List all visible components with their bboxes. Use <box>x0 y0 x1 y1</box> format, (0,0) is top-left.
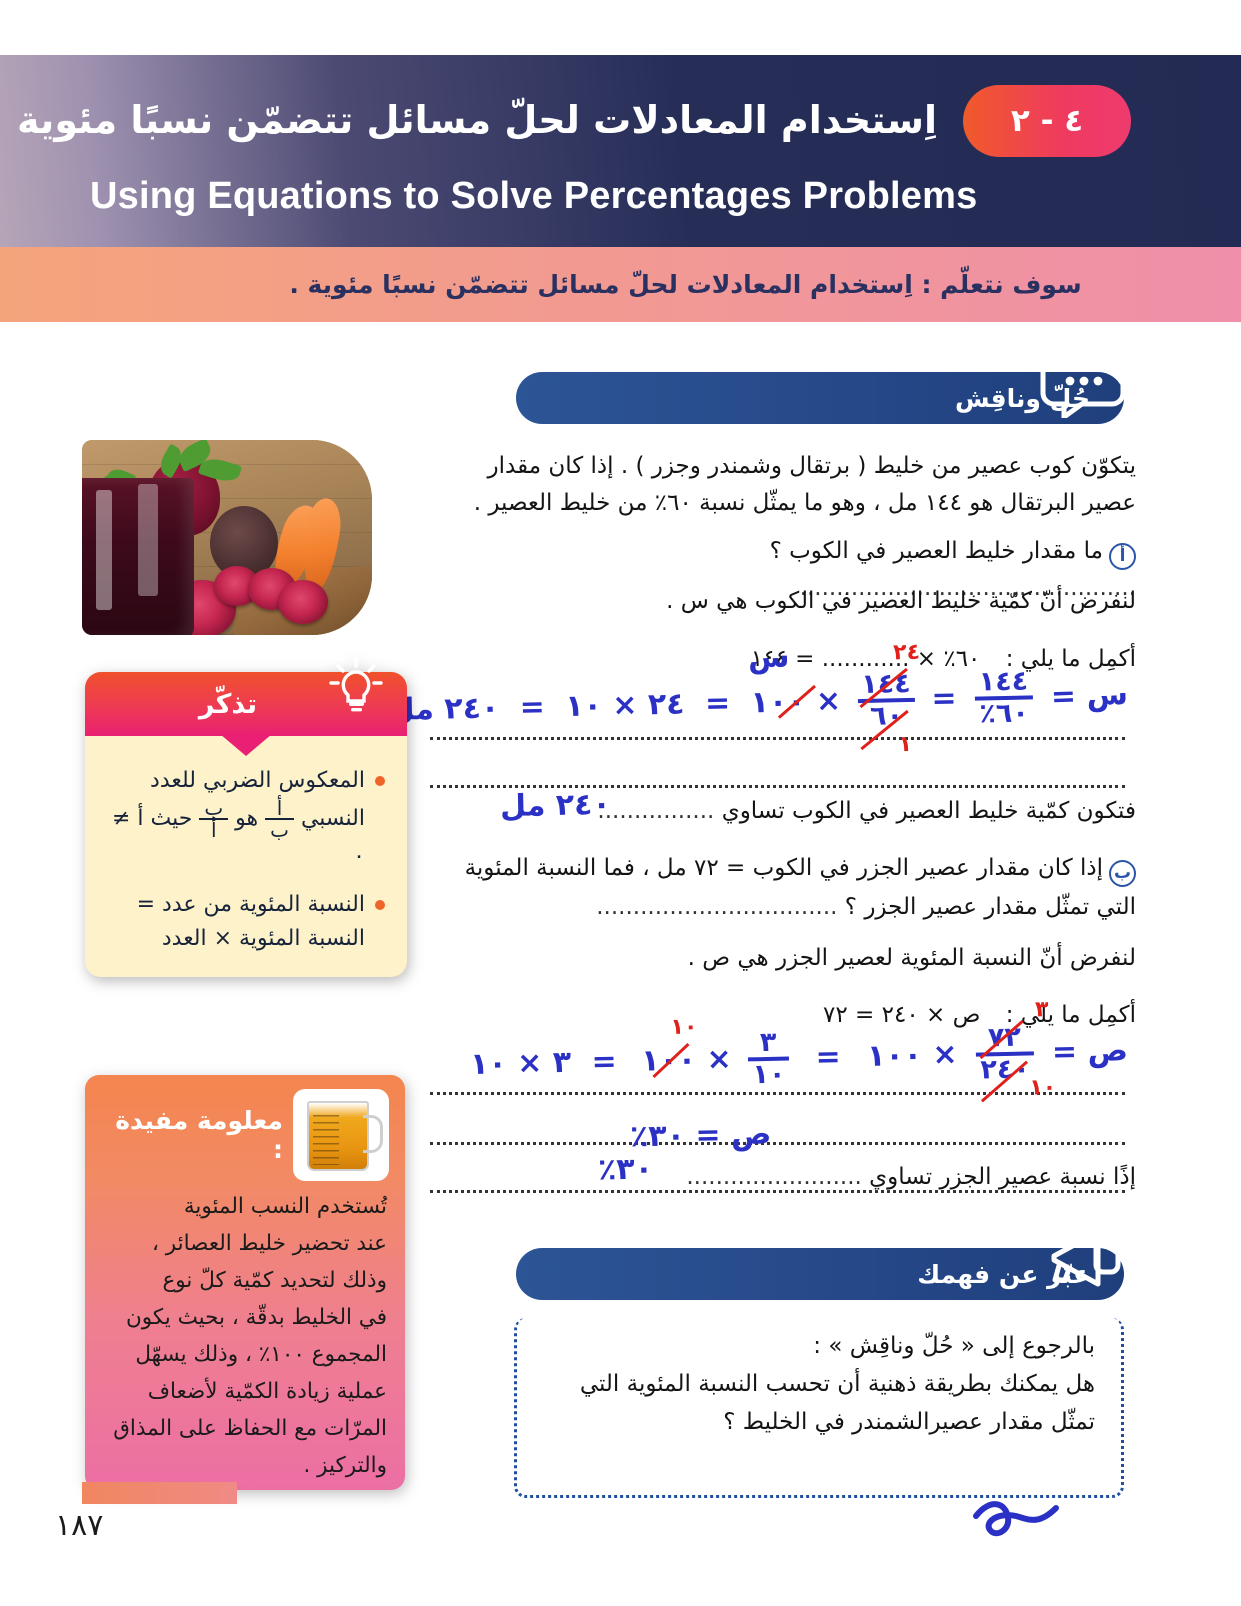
part-b-work-frac2-den: ١٠ <box>748 1061 790 1090</box>
useful-info-line-6: عملية زيادة الكمّية لأضعاف <box>101 1374 387 1411</box>
useful-info-card-title: معلومة مفيدة : <box>99 1106 283 1164</box>
remember-item-1-frac2-den: أ <box>199 820 228 840</box>
part-b-cancel2: ١٠ <box>670 1014 697 1040</box>
part-a-conclusion: فتكون كمّية خليط العصير في الكوب تساوي <box>722 798 1136 824</box>
part-b-answer-blank[interactable]: ................................. <box>596 894 837 920</box>
part-b-result-handwriting: ص = ٣٠٪ <box>629 1117 771 1155</box>
part-a-work-times: × <box>816 683 842 719</box>
useful-info-line-8: والتركيز . <box>101 1448 387 1485</box>
megaphone-icon <box>1038 1222 1126 1292</box>
part-a-work-eq3: = <box>705 686 731 722</box>
part-b-conclusion-row: إذًا نسبة عصير الجزر تساوي .............… <box>430 1159 1136 1196</box>
learning-objective-text: سوف نتعلّم : اِستخدام المعادلات لحلّ مسا… <box>159 270 1081 299</box>
lesson-number-badge: ٤ - ٢ <box>963 85 1131 157</box>
part-b-marker: ب <box>1109 860 1136 887</box>
part-a-work-eq4: = <box>519 689 545 725</box>
bullet-dot-icon <box>375 776 385 786</box>
useful-info-line-3: وذلك لتحديد كمّية كلّ نوع <box>101 1263 387 1300</box>
part-b-work-hundred1: ١٠٠ <box>867 1038 923 1074</box>
part-b-work-frac2-num: ٣ <box>747 1029 789 1062</box>
remember-item-2-line-2: النسبة المئوية × العدد <box>137 922 365 956</box>
remember-item-1-frac1-num: أ <box>265 798 294 820</box>
useful-info-line-1: تُستخدم النسب المئوية <box>101 1189 387 1226</box>
textbook-page: ٤ - ٢ اِستخدام المعادلات لحلّ مسائل تتضم… <box>0 0 1241 1606</box>
useful-info-line-7: المرّات مع الحفاظ على المذاق <box>101 1411 387 1448</box>
useful-info-card-body: تُستخدم النسب المئوية عند تحضير خليط الع… <box>85 1185 405 1490</box>
part-a-question: ما مقدار خليط العصير في الكوب ؟ <box>770 538 1103 564</box>
section-header-express-understanding: عبّر عن فهمك <box>516 1248 1124 1300</box>
bullet-dot-icon <box>375 900 385 910</box>
footer-color-tab <box>82 1482 237 1504</box>
useful-info-line-5: المجموع ١٠٠٪ ، وذلك يسهّل <box>101 1337 387 1374</box>
speech-bubble-icon <box>1040 352 1126 418</box>
remember-item-1-frac2-num: ب <box>199 798 228 820</box>
part-b-cancel1-num: ٣ <box>1035 997 1049 1022</box>
problem-intro-line-2: عصير البرتقال هو ١٤٤ مل ، وهو ما يمثّل ن… <box>430 485 1136 522</box>
part-b-question-line-1: إذا كان مقدار عصير الجزر في الكوب = ٧٢ م… <box>465 855 1103 881</box>
part-b-assume: لنفرض أنّ النسبة المئوية لعصير الجزر هي … <box>430 940 1136 977</box>
useful-info-card: معلومة مفيدة : تُستخدم النسب المئوية عند… <box>85 1075 405 1490</box>
part-b-question-row: بإذا كان مقدار عصير الجزر في الكوب = ٧٢ … <box>430 850 1136 927</box>
part-b-work-lhs: ص = <box>1052 1033 1129 1070</box>
part-b-work-times1: × <box>932 1037 958 1073</box>
express-understanding-text: بالرجوع إلى « حُلّ وناقِش » : هل يمكنك ب… <box>535 1328 1095 1442</box>
part-b-question-line-2: التي تمثّل مقدار عصير الجزر ؟ <box>845 894 1136 920</box>
part-a-work-frac1-num: ١٤٤ <box>974 667 1032 701</box>
section-header-solve-discuss: حُلّ وناقِش <box>516 372 1124 424</box>
measuring-jug-icon <box>293 1089 389 1181</box>
remember-item-2: النسبة المئوية من عدد = النسبة المئوية ×… <box>101 888 385 956</box>
part-a-conclusion-blank[interactable]: ................ <box>597 798 714 824</box>
part-b-conclusion-blank[interactable]: ........................ <box>686 1164 861 1190</box>
part-b-work-eq3: = <box>591 1044 617 1080</box>
learning-objective-band: سوف نتعلّم : اِستخدام المعادلات لحلّ مسا… <box>0 247 1241 322</box>
part-a-cancel-num: ٢٤ <box>893 640 920 666</box>
remember-item-1: المعكوس الضربي للعدد النسبي أ ب هو ب أ ح… <box>101 764 385 874</box>
page-number: ١٨٧ <box>55 1508 103 1543</box>
problem-intro-line-1: يتكوّن كوب عصير من خليط ( برتقال وشمندر … <box>430 448 1136 485</box>
part-a-assume: لنفرض أنّ كمّية خليط العصير في الكوب هي … <box>430 583 1136 620</box>
remember-item-2-line-1: النسبة المئوية من عدد = <box>137 888 365 922</box>
handwritten-checkmark <box>970 1490 1060 1550</box>
useful-info-card-header: معلومة مفيدة : <box>85 1075 405 1185</box>
remember-card: تذكّر المعكوس الضربي للعدد النسبي <box>85 672 407 977</box>
part-a-work-lhs: س = <box>1050 677 1128 715</box>
remember-item-1-frac1-den: ب <box>265 820 294 840</box>
problem-intro: يتكوّن كوب عصير من خليط ( برتقال وشمندر … <box>430 448 1136 523</box>
part-b-conclusion-handwriting: ٣٠٪ <box>598 1151 654 1187</box>
useful-info-line-4: في الخليط بدقّة ، بحيث يكون <box>101 1300 387 1337</box>
lightbulb-icon <box>323 656 389 718</box>
part-b-work-times2: × <box>706 1042 732 1078</box>
useful-info-line-2: عند تحضير خليط العصائر ، <box>101 1226 387 1263</box>
part-a-conclusion-handwriting: ٢٤٠ مل <box>500 787 611 824</box>
part-a-work-frac1-den: ٦٠٪ <box>975 700 1033 730</box>
part-b-work-step: ٣ × ١٠ <box>470 1045 572 1082</box>
part-a-cancel-den: ١ <box>898 732 912 757</box>
remember-card-body: المعكوس الضربي للعدد النسبي أ ب هو ب أ ح… <box>85 736 407 977</box>
part-a-work-step: ٢٤ × ١٠ <box>565 687 685 724</box>
juice-vegetables-photo <box>82 440 372 635</box>
part-a-work-eq2: = <box>931 681 957 717</box>
part-a-equation-blank-handwriting: س <box>747 640 789 676</box>
part-b-conclusion: إذًا نسبة عصير الجزر تساوي <box>869 1164 1136 1190</box>
lesson-title-english: Using Equations to Solve Percentages Pro… <box>90 175 1131 218</box>
part-a-marker: أ <box>1109 543 1136 570</box>
remember-card-header: تذكّر <box>85 672 407 736</box>
express-line-1: بالرجوع إلى « حُلّ وناقِش » : <box>535 1328 1095 1366</box>
express-line-3: تمثّل مقدار عصيرالشمندر في الخليط ؟ <box>535 1404 1095 1442</box>
lesson-title-arabic: اِستخدام المعادلات لحلّ مسائل تتضمّن نسب… <box>17 100 937 142</box>
part-b-cancel1-den: ١٠ <box>1029 1075 1056 1101</box>
work-line-b-2[interactable] <box>430 1142 1125 1145</box>
express-line-2: هل يمكنك بطريقة ذهنية أن تحسب النسبة الم… <box>535 1366 1095 1404</box>
part-b-work-eq2: = <box>815 1039 841 1075</box>
express-understanding-box: بالرجوع إلى « حُلّ وناقِش » : هل يمكنك ب… <box>514 1318 1124 1498</box>
remember-card-notch <box>220 734 272 756</box>
lesson-header-band: ٤ - ٢ اِستخدام المعادلات لحلّ مسائل تتضم… <box>0 55 1241 247</box>
remember-item-1-text-mid: هو <box>235 806 258 831</box>
